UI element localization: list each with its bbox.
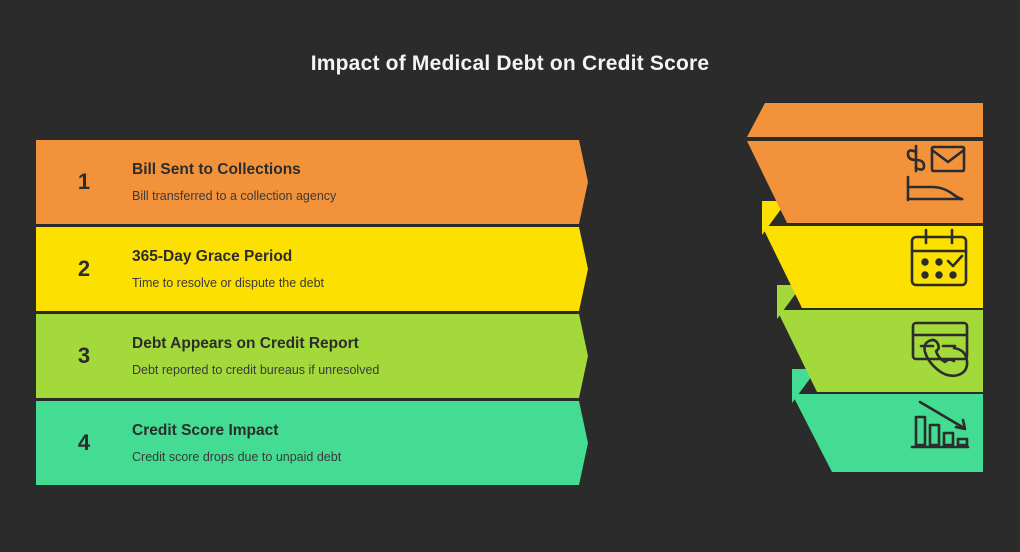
step-row-1[interactable]: 1 Bill Sent to Collections Bill transfer… xyxy=(36,140,588,224)
funnel-segment-4[interactable] xyxy=(792,394,983,472)
step-list: 1 Bill Sent to Collections Bill transfer… xyxy=(36,140,588,488)
funnel-diagram xyxy=(740,95,990,480)
funnel-segment-1[interactable] xyxy=(747,141,983,223)
step-content-1: Bill Sent to Collections Bill transferre… xyxy=(132,161,588,204)
step-row-2[interactable]: 2 365-Day Grace Period Time to resolve o… xyxy=(36,227,588,311)
page-title: Impact of Medical Debt on Credit Score xyxy=(0,52,1020,76)
step-content-2: 365-Day Grace Period Time to resolve or … xyxy=(132,248,588,291)
step-number-4: 4 xyxy=(36,432,132,454)
step-content-4: Credit Score Impact Credit score drops d… xyxy=(132,422,588,465)
step-description-3: Debt reported to credit bureaus if unres… xyxy=(132,364,548,378)
step-row-3[interactable]: 3 Debt Appears on Credit Report Debt rep… xyxy=(36,314,588,398)
step-content-3: Debt Appears on Credit Report Debt repor… xyxy=(132,335,588,378)
step-title-2: 365-Day Grace Period xyxy=(132,248,548,265)
step-title-3: Debt Appears on Credit Report xyxy=(132,335,548,352)
infographic-canvas: Impact of Medical Debt on Credit Score 1… xyxy=(0,0,1020,552)
step-description-2: Time to resolve or dispute the debt xyxy=(132,277,548,291)
step-number-1: 1 xyxy=(36,171,132,193)
step-title-4: Credit Score Impact xyxy=(132,422,548,439)
step-number-3: 3 xyxy=(36,345,132,367)
funnel-cap-segment xyxy=(747,103,983,137)
step-description-1: Bill transferred to a collection agency xyxy=(132,190,548,204)
step-row-4[interactable]: 4 Credit Score Impact Credit score drops… xyxy=(36,401,588,485)
step-title-1: Bill Sent to Collections xyxy=(132,161,548,178)
step-description-4: Credit score drops due to unpaid debt xyxy=(132,451,548,465)
step-number-2: 2 xyxy=(36,258,132,280)
